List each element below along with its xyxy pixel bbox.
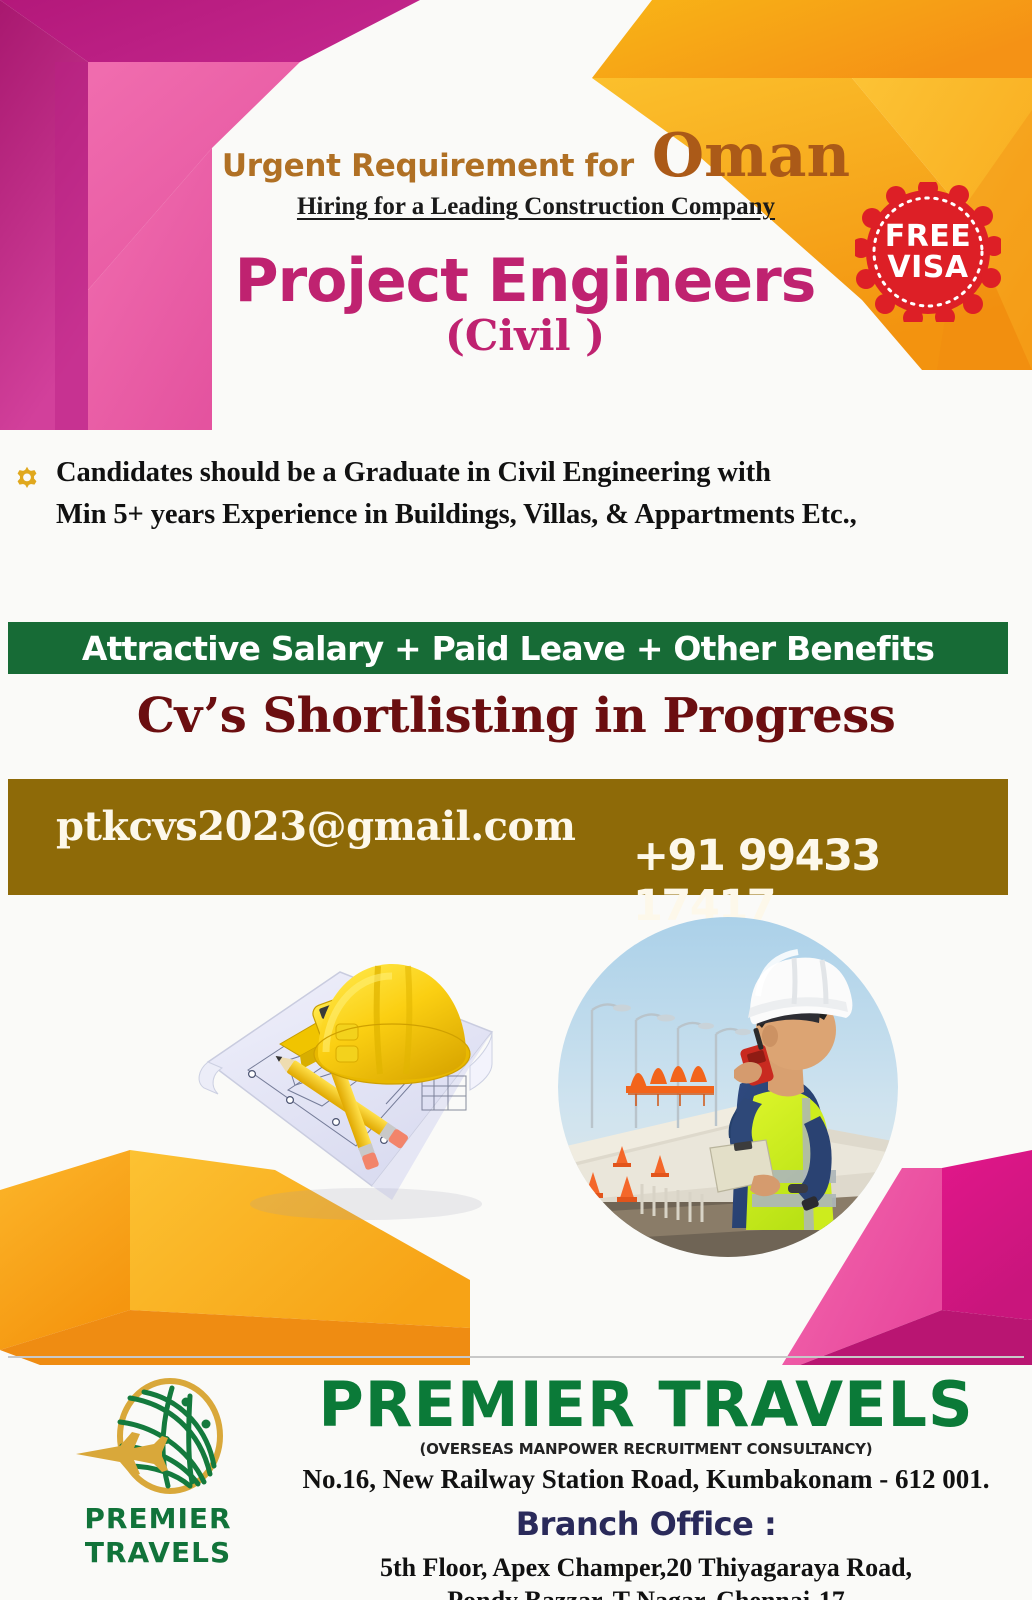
footer-company-info: PREMIER TRAVELS (OVERSEAS MANPOWER RECRU… (286, 1374, 1006, 1600)
logo-wordmark-line1: PREMIER (58, 1502, 258, 1536)
benefits-text: Attractive Salary + Paid Leave + Other B… (82, 629, 934, 668)
shortlisting-status: Cv’s Shortlisting in Progress (0, 688, 1032, 744)
requirement-lines: Candidates should be a Graduate in Civil… (56, 452, 857, 536)
branch-office-address: 5th Floor, Apex Champer,20 Thiyagaraya R… (286, 1551, 1006, 1600)
requirements-section: Candidates should be a Graduate in Civil… (12, 452, 1022, 536)
visa-badge-text: FREE VISA (855, 182, 1001, 322)
contact-bar: ptkcvs2023@gmail.com +91 99433 17417 (8, 779, 1008, 895)
requirement-line-2: Min 5+ years Experience in Buildings, Vi… (56, 494, 857, 536)
branch-address-line1: 5th Floor, Apex Champer,20 Thiyagaraya R… (286, 1551, 1006, 1584)
footer-divider (8, 1356, 1024, 1358)
urgent-label: Urgent Requirement for (222, 148, 634, 184)
urgent-requirement-line: Urgent Requirement for Oman (0, 128, 1032, 185)
branch-office-heading: Branch Office : (286, 1505, 1006, 1543)
visa-badge-line2: VISA (887, 253, 968, 283)
logo-wordmark: PREMIER TRAVELS (58, 1502, 258, 1570)
visa-badge-line1: FREE (885, 222, 972, 252)
poster-footer: PREMIER TRAVELS PREMIER TRAVELS (OVERSEA… (0, 1356, 1032, 1600)
gear-icon (12, 462, 42, 492)
imagery-row (0, 896, 1032, 1336)
head-office-address: No.16, New Railway Station Road, Kumbako… (286, 1464, 1006, 1495)
company-name: PREMIER TRAVELS (286, 1374, 1006, 1436)
branch-address-line2: Pondy Bazzar, T-Nagar, Chennai-17 (286, 1584, 1006, 1600)
requirement-line-1: Candidates should be a Graduate in Civil… (56, 452, 857, 494)
free-visa-badge: FREE VISA (855, 182, 1001, 322)
benefits-banner: Attractive Salary + Paid Leave + Other B… (8, 622, 1008, 674)
country-name: Oman (652, 128, 850, 185)
premier-travels-globe-logo: PREMIER TRAVELS (58, 1378, 258, 1578)
logo-wordmark-line2: TRAVELS (58, 1536, 258, 1570)
company-tagline: (OVERSEAS MANPOWER RECRUITMENT CONSULTAN… (286, 1440, 1006, 1458)
site-engineer-photo (558, 902, 898, 1272)
contact-email[interactable]: ptkcvs2023@gmail.com (56, 803, 576, 850)
recruitment-poster: Urgent Requirement for Oman Hiring for a… (0, 0, 1032, 1600)
hard-hat-blueprint-photo (140, 914, 500, 1234)
